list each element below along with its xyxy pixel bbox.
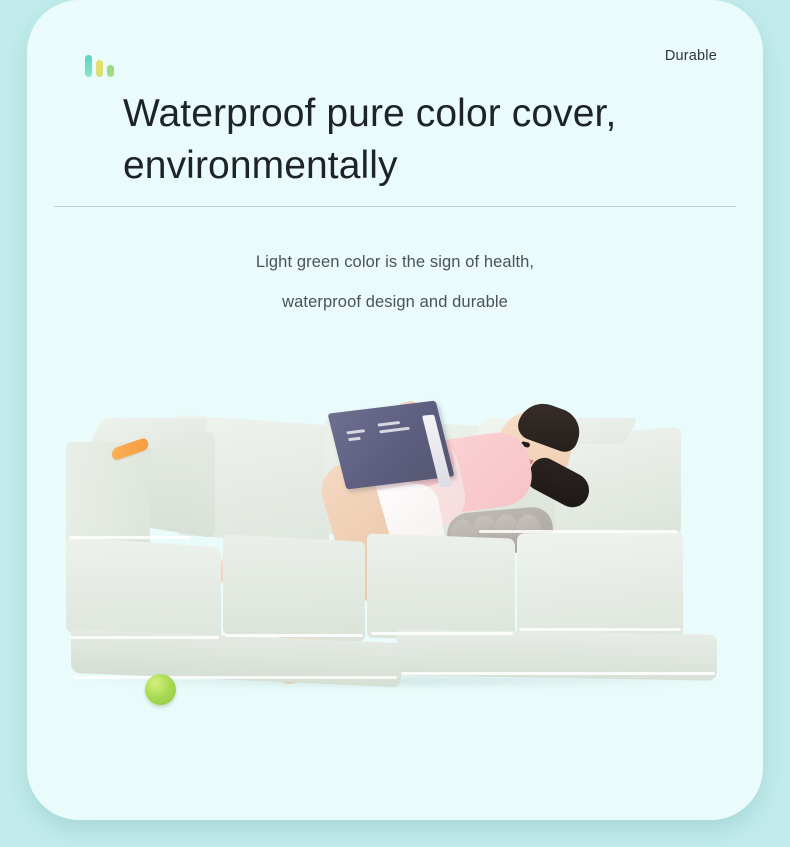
logo-bar-green <box>107 65 114 77</box>
page-subtitle-line-1: Light green color is the sign of health, <box>27 242 763 282</box>
sofa-seat-cushion-4 <box>517 531 683 640</box>
product-photo <box>27 370 763 820</box>
page-title: Waterproof pure color cover, environment… <box>67 88 723 192</box>
header: Durable <box>27 0 763 86</box>
page-subtitle-line-2: waterproof design and durable <box>27 282 763 322</box>
bar-chart-logo-icon <box>85 53 121 77</box>
sofa-seam <box>225 634 363 637</box>
sofa-seam <box>479 530 677 533</box>
section-divider <box>54 206 736 207</box>
durable-badge: Durable <box>665 48 717 64</box>
page-title-line-1: Waterproof pure color cover, <box>67 88 723 140</box>
sofa-seat-cushion-2 <box>223 534 365 641</box>
sofa-seam <box>69 536 191 539</box>
page-subtitle: Light green color is the sign of health,… <box>27 242 763 322</box>
book-text-mark <box>348 437 361 441</box>
sofa-seam <box>73 676 397 679</box>
book-text-mark <box>379 427 410 434</box>
sofa-seam <box>69 636 219 639</box>
logo-bar-yellow <box>96 60 103 77</box>
book-text-mark <box>346 429 365 434</box>
sofa-seam <box>401 672 715 675</box>
sofa-seat-cushion-1 <box>66 537 221 644</box>
book-text-mark <box>377 421 400 427</box>
promo-card: Durable Waterproof pure color cover, env… <box>27 0 763 820</box>
sofa-seat-cushion-3 <box>367 533 515 642</box>
sofa-seam <box>371 632 513 635</box>
green-ball-toy <box>145 674 176 705</box>
sofa-seam <box>519 628 681 631</box>
logo-bar-teal <box>85 55 92 77</box>
page-title-line-2: environmentally <box>67 140 723 192</box>
